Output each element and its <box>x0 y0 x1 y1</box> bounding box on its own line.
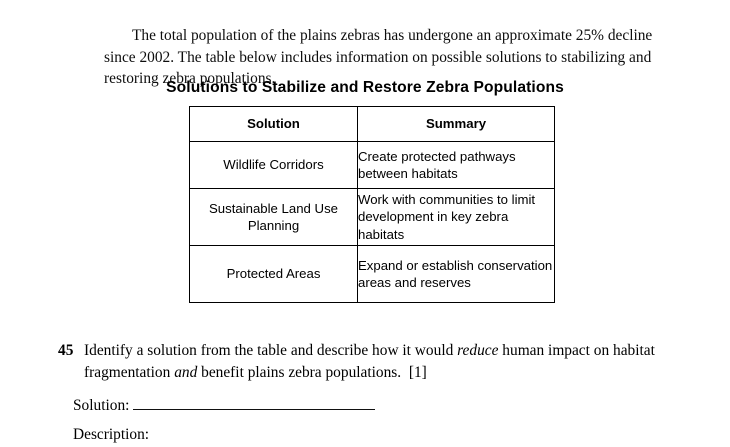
cell-solution: Protected Areas <box>190 246 358 303</box>
column-header-summary: Summary <box>358 107 555 142</box>
solution-answer-field[interactable] <box>133 398 375 410</box>
solutions-table: Solution Summary Wildlife Corridors Crea… <box>189 106 555 303</box>
solution-label: Solution: <box>73 397 129 414</box>
question-emphasis-reduce: reduce <box>457 342 498 359</box>
table-title: Solutions to Stabilize and Restore Zebra… <box>0 79 730 97</box>
question-emphasis-and: and <box>174 364 197 381</box>
table-header-row: Solution Summary <box>190 107 555 142</box>
question-text: Identify a solution from the table and d… <box>84 340 668 383</box>
question-text-part1: Identify a solution from the table and d… <box>84 342 457 359</box>
answer-description-row: Description: <box>73 424 149 445</box>
question-marks: [1] <box>409 364 427 381</box>
table-row: Protected Areas Expand or establish cons… <box>190 246 555 303</box>
question-number: 45 <box>58 340 73 362</box>
cell-summary: Create protected pathways between habita… <box>358 142 555 189</box>
question-block: 45 Identify a solution from the table an… <box>58 340 668 383</box>
column-header-solution: Solution <box>190 107 358 142</box>
cell-summary: Expand or establish conservation areas a… <box>358 246 555 303</box>
answer-solution-row: Solution: <box>73 395 375 416</box>
cell-solution: Wildlife Corridors <box>190 142 358 189</box>
cell-solution: Sustainable Land Use Planning <box>190 189 358 246</box>
description-label: Description: <box>73 426 149 443</box>
cell-summary: Work with communities to limit developme… <box>358 189 555 246</box>
table-row: Wildlife Corridors Create protected path… <box>190 142 555 189</box>
question-text-part3: benefit plains zebra populations. <box>197 364 401 381</box>
table-row: Sustainable Land Use Planning Work with … <box>190 189 555 246</box>
